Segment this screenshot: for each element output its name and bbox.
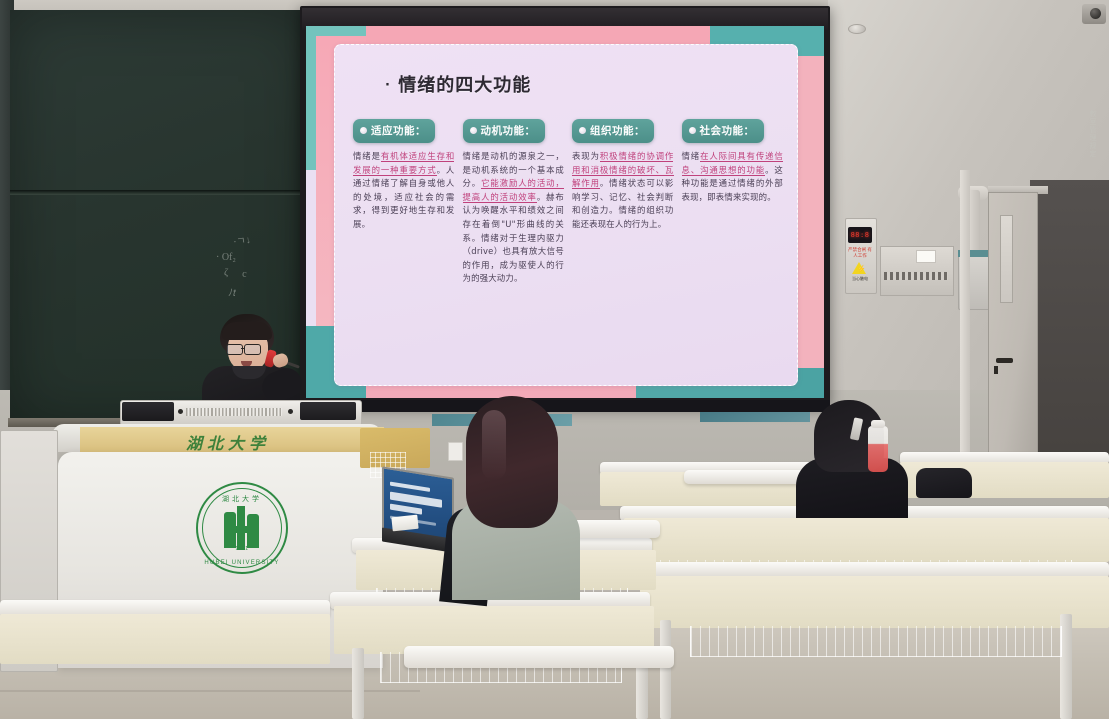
university-logo: 湖北大学 1931 HUBEI UNIVERSITY <box>196 482 288 574</box>
desk-leg <box>352 648 364 719</box>
pill-bullet-icon <box>470 127 477 134</box>
slide-title: · 情绪的四大功能 <box>385 71 531 97</box>
podium-screen-left[interactable] <box>122 402 174 421</box>
desk-surface <box>0 614 330 664</box>
body-post-2: 。赫布认为唤醒水平和绩效之间存在着倒"U"形曲线的关系。情绪对于生理内驱力（dr… <box>463 192 565 284</box>
column-heading-pill-3: 组织功能： <box>572 119 654 143</box>
body-pre-1: 情绪是 <box>353 151 381 161</box>
breaker-label-tag <box>916 250 936 263</box>
podium-indicator-dot <box>178 409 183 414</box>
desk-wire-basket <box>690 626 1062 657</box>
laptop-ui-line <box>390 482 430 492</box>
pill-bullet-icon <box>360 127 367 134</box>
student-front-hair-highlight <box>482 410 506 480</box>
breaker-switch-row[interactable] <box>884 272 948 280</box>
podium-calligraphy: 湖北大学 <box>186 430 270 454</box>
podium-speaker-grill <box>186 408 282 416</box>
front-rail-teal <box>700 412 810 422</box>
water-bottle <box>868 426 888 472</box>
body-pre-4: 情绪 <box>682 151 701 161</box>
slide-title-text: 情绪的四大功能 <box>398 75 531 96</box>
desk-surface <box>624 518 1109 562</box>
slide-columns: 适应功能： 情绪是有机体适应生存和发展的一种重要方式。人通过情绪了解自身或他人的… <box>353 119 783 286</box>
column-heading-pill-2: 动机功能： <box>463 119 545 143</box>
podium-screen-right[interactable] <box>300 402 356 420</box>
board-side-note: 教室管理规定 <box>1087 110 1097 158</box>
column-body-2: 情绪是动机的源泉之一，是动机系统的一个基本成分。它能激励人的活动，提高人的活动效… <box>463 150 565 286</box>
student-front-hair <box>466 396 558 528</box>
doorway-opening <box>1030 180 1109 470</box>
column-heading-pill-1: 适应功能： <box>353 119 435 143</box>
slide-column-4: 社会功能： 情绪在人际间具有传递信息、沟通思想的功能。这种功能是通过情绪的外部表… <box>682 119 784 286</box>
desk-leg <box>660 620 671 719</box>
body-pre-3: 表现为 <box>572 151 600 161</box>
slide-column-3: 组织功能： 表现为积极情绪的协调作用和消极情绪的破坏、瓦解作用。情绪状态可以影响… <box>572 119 674 286</box>
water-bottle-cap <box>871 420 885 428</box>
eyeglasses-right-lens-icon <box>244 344 261 355</box>
ceiling-sensor-icon <box>848 24 866 34</box>
column-heading-text-2: 动机功能： <box>481 123 536 138</box>
logo-emblem-icon <box>222 506 262 550</box>
column-heading-text-4: 社会功能： <box>700 123 755 138</box>
warning-caption: 当心触电 <box>846 276 874 282</box>
classroom-photo-scene: ·ㄱ↓ · Of₂ ζc ﾉ𝑡 教室管理规定 安全注意事项 · 情绪的四大功能 <box>0 0 1109 719</box>
logo-chinese-name: 湖北大学 <box>196 494 288 504</box>
lightning-bolt-icon: ⚡ <box>857 266 866 273</box>
column-heading-pill-4: 社会功能： <box>682 119 764 143</box>
backpack <box>916 468 972 498</box>
paper-stack <box>391 515 418 532</box>
laptop-ui-line <box>390 504 422 515</box>
camera-lens-icon <box>1090 8 1101 19</box>
led-clock-display: 88:8 <box>848 227 872 243</box>
column-heading-text-1: 适应功能： <box>371 123 426 138</box>
blackboard-seam <box>10 190 310 195</box>
column-body-4: 情绪在人际间具有传递信息、沟通思想的功能。这种功能是通过情绪的外部表现，即表情来… <box>682 150 784 204</box>
desk-surface <box>640 576 1109 628</box>
slide-column-2: 动机功能： 情绪是动机的源泉之一，是动机系统的一个基本成分。它能激励人的活动，提… <box>463 119 565 286</box>
projection-screen[interactable]: · 情绪的四大功能 适应功能： 情绪是有机体适应生存和发展的一种重要方式。人通过… <box>306 26 824 398</box>
title-bullet-icon: · <box>385 78 391 93</box>
pill-bullet-icon <box>689 127 696 134</box>
door-window-panel <box>1000 215 1013 303</box>
chair-back <box>404 646 674 668</box>
lecturer-fringe <box>222 322 272 340</box>
student-back <box>796 400 906 510</box>
panel-warning-text: 严禁合闸 有人工作 <box>847 247 873 258</box>
door-lock-icon[interactable] <box>994 366 998 374</box>
eyeglasses-bridge-icon <box>241 348 245 349</box>
wall-pipe <box>960 170 970 470</box>
column-body-1: 情绪是有机体适应生存和发展的一种重要方式。人通过情绪了解自身或他人的处境，适应社… <box>353 150 455 232</box>
column-body-3: 表现为积极情绪的协调作用和消极情绪的破坏、瓦解作用。情绪状态可以影响学习、记忆、… <box>572 150 674 232</box>
door-handle[interactable] <box>996 358 1013 363</box>
slide-column-1: 适应功能： 情绪是有机体适应生存和发展的一种重要方式。人通过情绪了解自身或他人的… <box>353 119 455 286</box>
logo-stroke <box>226 526 258 533</box>
column-heading-text-3: 组织功能： <box>590 123 645 138</box>
presentation-slide: · 情绪的四大功能 适应功能： 情绪是有机体适应生存和发展的一种重要方式。人通过… <box>334 44 798 386</box>
logo-english-name: HUBEI UNIVERSITY <box>196 560 288 566</box>
classroom-door[interactable] <box>988 192 1038 480</box>
eyeglasses-left-lens-icon <box>226 344 243 355</box>
logo-founding-year: 1931 <box>196 546 288 552</box>
pill-bullet-icon <box>579 127 586 134</box>
led-clock-text: 88:8 <box>851 231 870 239</box>
podium-indicator-dot <box>288 409 293 414</box>
student-front <box>452 396 572 596</box>
